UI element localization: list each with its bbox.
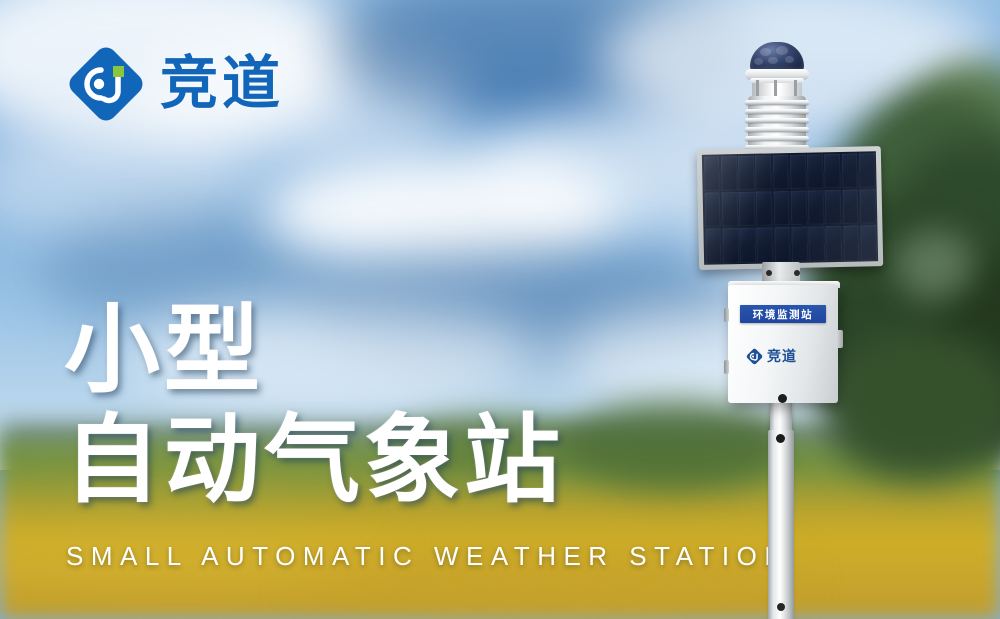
headline-block: 小型 自动气象站 bbox=[64, 300, 564, 512]
solar-cell bbox=[738, 155, 754, 190]
solar-cell bbox=[739, 191, 755, 226]
solar-cell bbox=[756, 191, 772, 226]
solar-cell bbox=[841, 153, 857, 188]
solar-panel bbox=[697, 146, 883, 270]
solar-cell bbox=[859, 189, 875, 224]
solar-cell bbox=[807, 154, 823, 189]
solar-cell bbox=[705, 228, 721, 263]
solar-cell bbox=[825, 190, 841, 225]
shield-fin bbox=[745, 127, 809, 132]
solar-cell bbox=[826, 226, 842, 261]
solar-panel-cell-grid bbox=[702, 151, 878, 265]
solar-cell bbox=[721, 192, 737, 227]
solar-cell bbox=[774, 227, 790, 262]
dome-facet bbox=[760, 48, 771, 56]
solar-cell bbox=[824, 153, 840, 188]
jingdao-diamond-logo-icon bbox=[66, 44, 146, 124]
mounting-mast-lower bbox=[768, 430, 794, 619]
shield-fin bbox=[745, 118, 809, 123]
promotional-banner: 竞道 小型 自动气象站 SMALL AUTOMATIC WEATHER STAT… bbox=[0, 0, 1000, 619]
enclosure-brand-text: 竞道 bbox=[767, 346, 797, 366]
brand-logo[interactable]: 竞道 bbox=[66, 44, 284, 124]
solar-cell bbox=[772, 155, 788, 190]
mast-bolt bbox=[777, 603, 785, 611]
tree-highlight bbox=[895, 230, 975, 300]
solar-cell bbox=[773, 191, 789, 226]
solar-cell bbox=[704, 192, 720, 227]
dome-facet bbox=[754, 58, 763, 65]
jingdao-diamond-logo-icon bbox=[746, 348, 763, 365]
solar-cell bbox=[859, 153, 875, 188]
solar-cell bbox=[757, 227, 773, 262]
shield-fin bbox=[745, 136, 809, 141]
enclosure-brand-logo: 竞道 bbox=[746, 346, 797, 366]
solar-cell bbox=[755, 155, 771, 190]
shield-fin bbox=[745, 109, 809, 114]
dome-facet bbox=[776, 46, 788, 55]
enclosure-label: 环境监测站 bbox=[740, 305, 826, 323]
brand-wordmark: 竞道 bbox=[160, 55, 284, 113]
solar-cell bbox=[808, 190, 824, 225]
enclosure-latch bbox=[836, 330, 843, 348]
enclosure-bolt bbox=[778, 394, 787, 403]
data-logger-enclosure bbox=[728, 285, 838, 403]
dome-facet bbox=[785, 56, 794, 63]
solar-cell bbox=[790, 190, 806, 225]
bracket-bolt bbox=[794, 270, 800, 276]
solar-cell bbox=[703, 156, 719, 191]
solar-cell bbox=[843, 225, 859, 260]
solar-cell bbox=[722, 228, 738, 263]
enclosure-hinge bbox=[724, 360, 729, 374]
weather-station-product: 环境监测站 竞道 bbox=[690, 30, 890, 619]
solar-cell bbox=[739, 228, 755, 263]
solar-cell bbox=[790, 154, 806, 189]
shield-fin bbox=[745, 100, 809, 105]
headline-subtitle: SMALL AUTOMATIC WEATHER STATION bbox=[66, 541, 791, 572]
solar-cell bbox=[808, 226, 824, 261]
enclosure-hinge bbox=[724, 308, 729, 322]
solar-cell bbox=[791, 226, 807, 261]
headline-line-2: 自动气象站 bbox=[64, 410, 564, 512]
solar-cell bbox=[842, 189, 858, 224]
solar-cell bbox=[860, 225, 876, 260]
mast-bolt bbox=[776, 434, 785, 443]
bracket-bolt bbox=[766, 270, 772, 276]
dome-facet bbox=[768, 57, 778, 64]
solar-cell bbox=[721, 156, 737, 191]
headline-line-1: 小型 bbox=[64, 300, 564, 402]
